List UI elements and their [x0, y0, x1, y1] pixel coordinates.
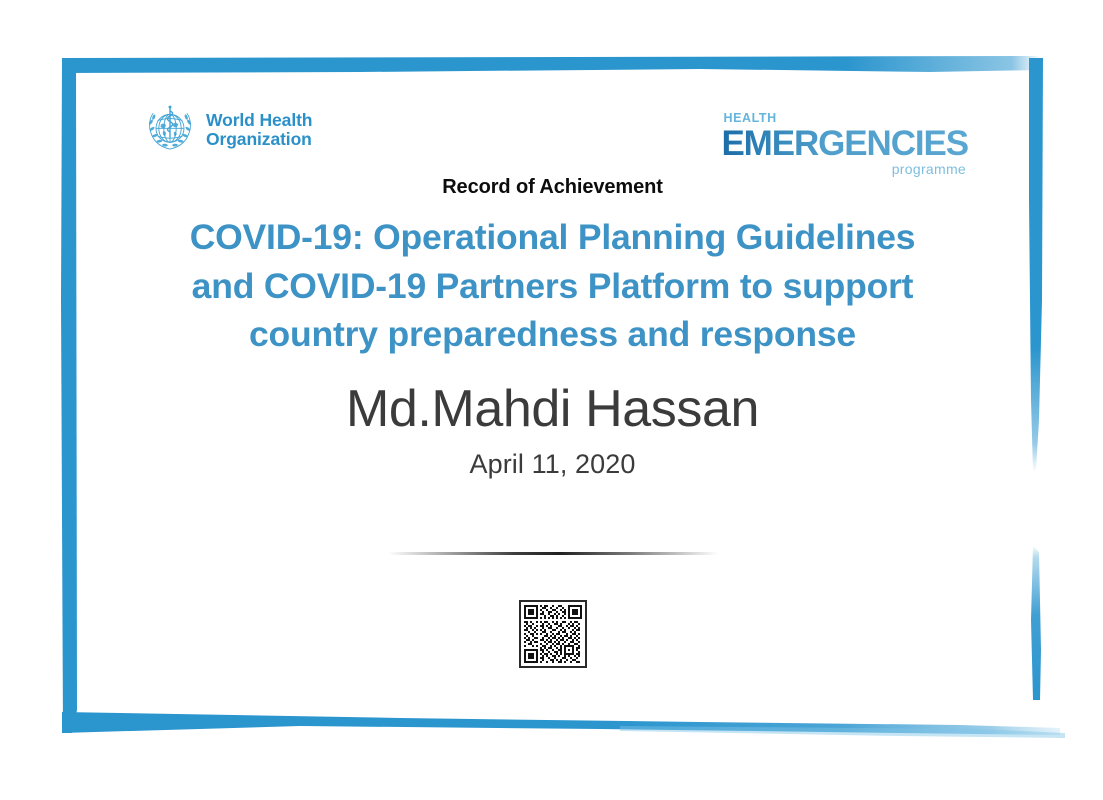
qr-code-frame: [519, 600, 587, 668]
logo-row: World Health Organization HEALTH EMERGEN…: [75, 70, 1030, 152]
course-title: COVID-19: Operational Planning Guideline…: [75, 213, 1030, 359]
certificate-page: World Health Organization HEALTH EMERGEN…: [0, 0, 1103, 800]
qr-code-image: [524, 605, 582, 663]
recipient-name: Md.Mahdi Hassan: [75, 379, 1030, 439]
he-emergencies-text: EMERGENCIES: [721, 126, 968, 161]
tapered-rule: [388, 552, 718, 555]
who-emblem-icon: [142, 102, 198, 158]
course-title-line3: country preparedness and response: [79, 310, 1026, 359]
course-title-line1: COVID-19: Operational Planning Guideline…: [79, 213, 1026, 262]
course-title-line2: and COVID-19 Partners Platform to suppor…: [79, 262, 1026, 311]
health-emergencies-logo: HEALTH EMERGENCIES programme: [721, 112, 968, 176]
who-logo: World Health Organization: [142, 102, 312, 158]
record-of-achievement-label: Record of Achievement: [75, 176, 1030, 199]
certificate-content: World Health Organization HEALTH EMERGEN…: [75, 70, 1030, 710]
who-wordmark-line2: Organization: [206, 130, 312, 149]
who-wordmark-line1: World Health: [206, 111, 312, 130]
he-health-text: HEALTH: [723, 112, 968, 125]
he-programme-text: programme: [721, 162, 966, 176]
who-wordmark: World Health Organization: [206, 111, 312, 149]
issue-date: April 11, 2020: [75, 449, 1030, 480]
